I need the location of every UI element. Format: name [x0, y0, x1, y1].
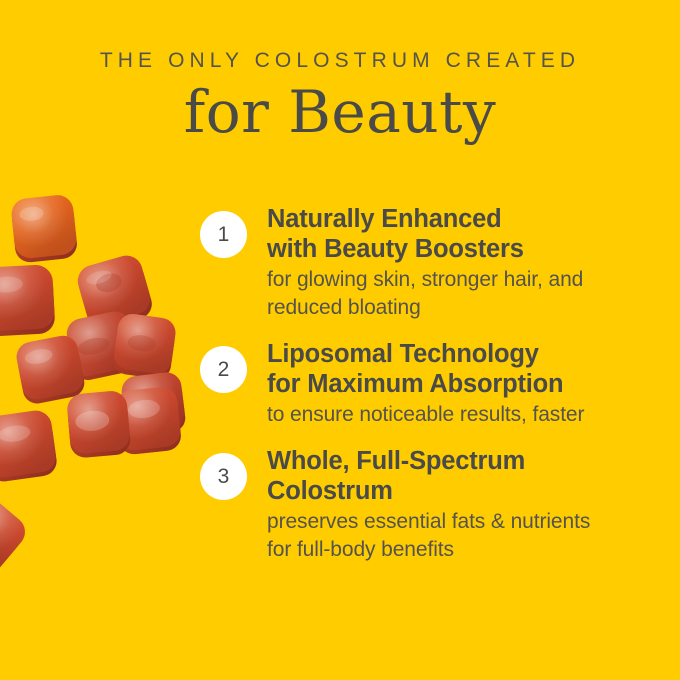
benefit-number-badge: 3	[200, 453, 247, 500]
benefit-item-2: 2 Liposomal Technology for Maximum Absor…	[200, 340, 650, 429]
benefit-title-line: Naturally Enhanced	[267, 205, 650, 235]
benefit-text-block: Liposomal Technology for Maximum Absorpt…	[267, 340, 650, 429]
benefit-desc-line: for glowing skin, stronger hair, and	[267, 266, 650, 294]
benefit-text-block: Naturally Enhanced with Beauty Boosters …	[267, 205, 650, 322]
benefit-title-line: Liposomal Technology	[267, 340, 650, 370]
benefits-list: 1 Naturally Enhanced with Beauty Booster…	[200, 205, 650, 582]
benefit-description: preserves essential fats & nutrients for…	[267, 508, 650, 564]
benefit-desc-line: for full-body benefits	[267, 536, 650, 564]
benefit-description: to ensure noticeable results, faster	[267, 401, 650, 429]
benefit-desc-line: preserves essential fats & nutrients	[267, 508, 650, 536]
benefit-description: for glowing skin, stronger hair, and red…	[267, 266, 650, 322]
benefit-number-badge: 1	[200, 211, 247, 258]
benefit-item-1: 1 Naturally Enhanced with Beauty Booster…	[200, 205, 650, 322]
benefit-number-badge: 2	[200, 346, 247, 393]
promo-poster: THE ONLY COLOSTRUM CREATED for Beauty 1 …	[0, 0, 680, 680]
eyebrow-text: THE ONLY COLOSTRUM CREATED	[0, 49, 680, 73]
benefit-title-line: with Beauty Boosters	[267, 235, 650, 265]
page-title: for Beauty	[0, 78, 680, 146]
benefit-title-line: Colostrum	[267, 477, 650, 507]
benefit-title-line: Whole, Full-Spectrum	[267, 447, 650, 477]
benefit-text-block: Whole, Full-Spectrum Colostrum preserves…	[267, 447, 650, 564]
benefit-item-3: 3 Whole, Full-Spectrum Colostrum preserv…	[200, 447, 650, 564]
benefit-desc-line: reduced bloating	[267, 294, 650, 322]
benefit-title: Naturally Enhanced with Beauty Boosters	[267, 205, 650, 264]
benefit-title: Whole, Full-Spectrum Colostrum	[267, 447, 650, 506]
benefit-title-line: for Maximum Absorption	[267, 370, 650, 400]
benefit-title: Liposomal Technology for Maximum Absorpt…	[267, 340, 650, 399]
benefit-desc-line: to ensure noticeable results, faster	[267, 401, 650, 429]
